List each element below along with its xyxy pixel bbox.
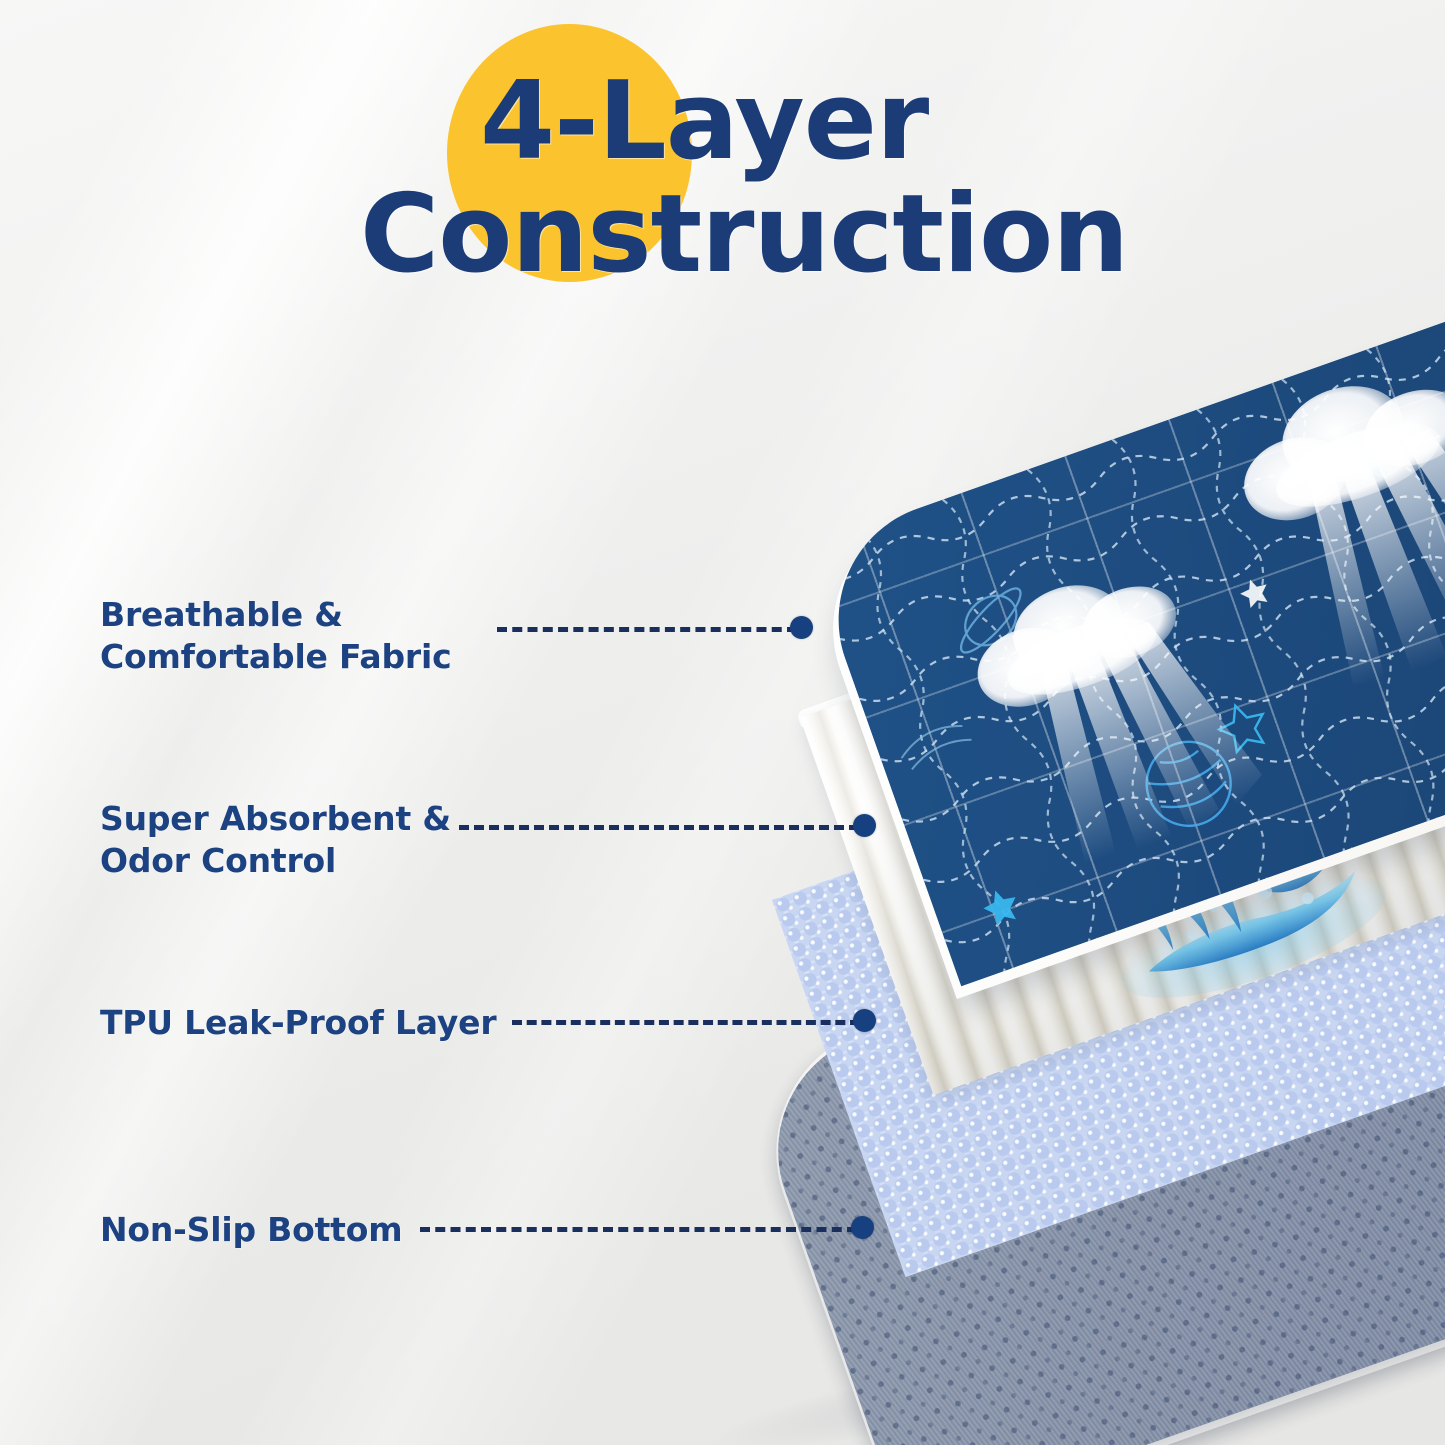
leader-line-2 bbox=[459, 825, 859, 830]
layer-label-non-slip-bottom: Non-Slip Bottom bbox=[100, 1209, 402, 1251]
leader-dot-3 bbox=[853, 1009, 876, 1032]
leader-line-4 bbox=[420, 1227, 857, 1232]
leader-line-3 bbox=[512, 1020, 860, 1025]
leader-dot-1 bbox=[790, 616, 813, 639]
page-title: 4-Layer Construction bbox=[360, 72, 1120, 285]
leader-dot-4 bbox=[851, 1216, 874, 1239]
page-title-line2: Construction bbox=[360, 185, 1120, 284]
page-title-line1: 4-Layer bbox=[360, 72, 1120, 171]
leader-dot-2 bbox=[853, 814, 876, 837]
leader-line-1 bbox=[497, 627, 797, 632]
layer-label-tpu-leak-proof-layer: TPU Leak-Proof Layer bbox=[100, 1002, 496, 1044]
infographic-canvas: 4-Layer Construction Breathable & Comfor… bbox=[0, 0, 1445, 1445]
layer-label-super-absorbent-odor-control: Super Absorbent & Odor Control bbox=[100, 798, 451, 882]
layer-label-breathable-comfortable-fabric: Breathable & Comfortable Fabric bbox=[100, 594, 451, 678]
